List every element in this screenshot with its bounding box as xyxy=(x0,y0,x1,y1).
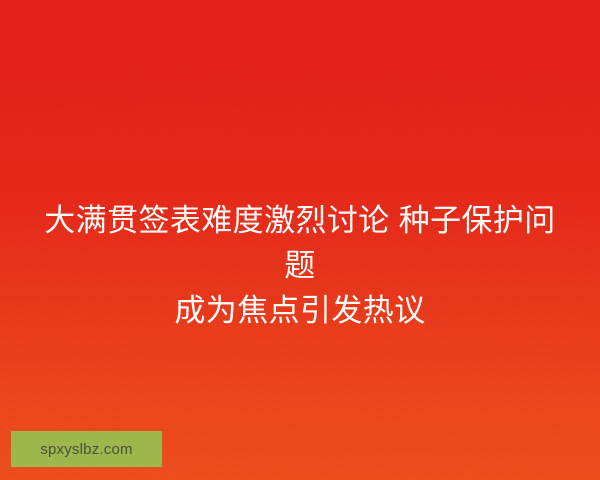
site-watermark-badge: spxyslbz.com xyxy=(11,431,162,467)
headline-text: 大满贯签表难度激烈讨论 种子保护问题 成为焦点引发热议 xyxy=(0,198,600,333)
promo-banner: 大满贯签表难度激烈讨论 种子保护问题 成为焦点引发热议 spxyslbz.com xyxy=(0,0,600,480)
site-watermark-label: spxyslbz.com xyxy=(40,442,132,457)
